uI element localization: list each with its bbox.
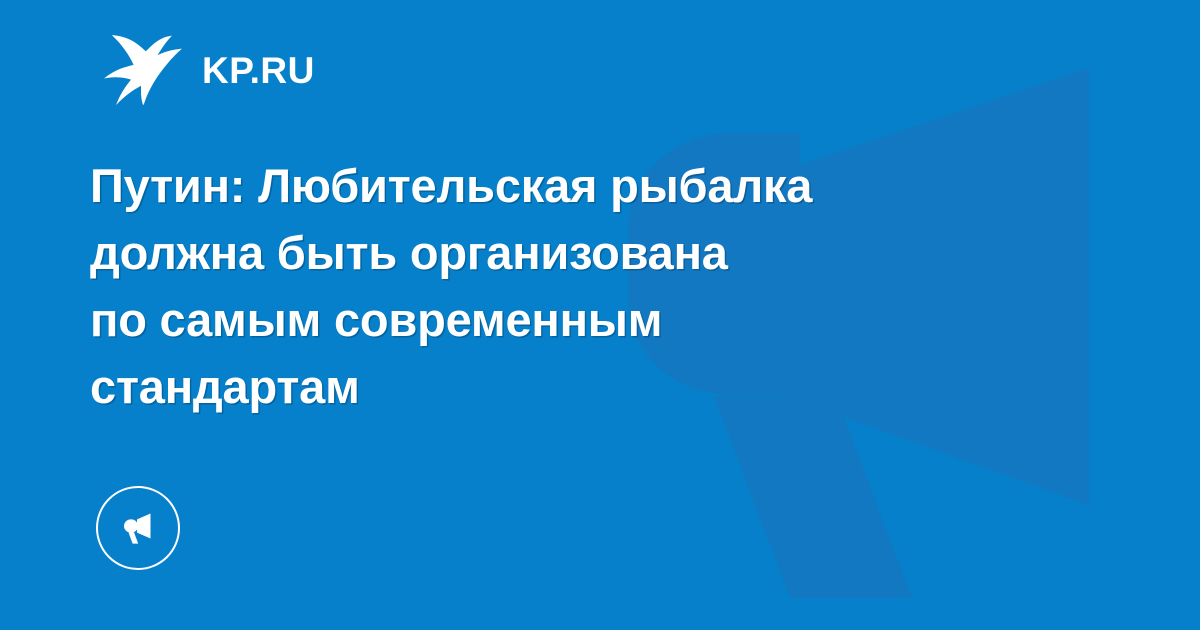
site-wordmark: KP.RU bbox=[202, 52, 315, 89]
megaphone-badge[interactable] bbox=[96, 486, 180, 570]
social-share-card: KP.RU Путин: Любительская рыбалка должна… bbox=[0, 0, 1200, 630]
headline-line-2: должна быть организована bbox=[90, 219, 1030, 286]
headline-line-1: Путин: Любительская рыбалка bbox=[90, 152, 1030, 219]
megaphone-icon bbox=[118, 508, 158, 548]
headline-line-3: по самым современным bbox=[90, 286, 1030, 353]
site-logo[interactable]: KP.RU bbox=[104, 33, 315, 107]
headline-line-4: стандартам bbox=[90, 353, 1030, 420]
headline: Путин: Любительская рыбалка должна быть … bbox=[90, 152, 1030, 420]
swallow-bird-icon bbox=[104, 35, 182, 105]
